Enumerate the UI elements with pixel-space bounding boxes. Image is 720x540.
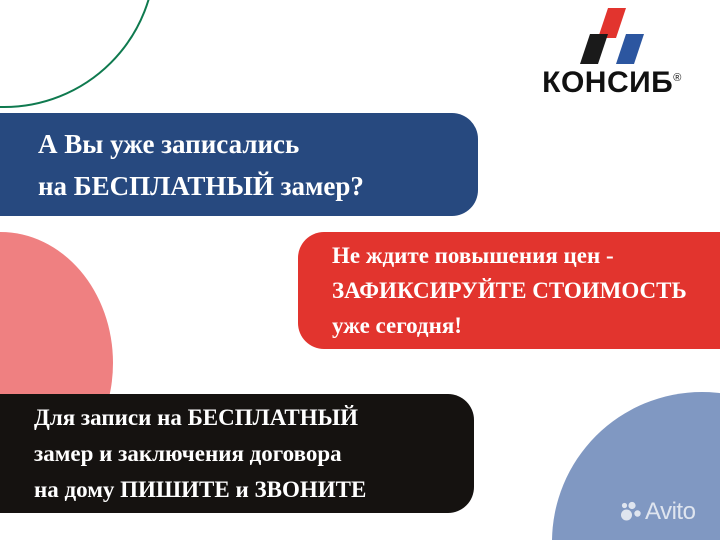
avito-label: Avito bbox=[645, 498, 695, 526]
green-ring-decoration bbox=[0, 0, 156, 108]
banner-free-measurement-question: А Вы уже записались на БЕСПЛАТНЫЙ замер? bbox=[0, 113, 478, 216]
avito-watermark: Avito bbox=[620, 498, 695, 526]
brand-name: КОНСИБ bbox=[542, 66, 673, 99]
banner-black-line-1: Для записи на БЕСПЛАТНЫЙ bbox=[34, 400, 474, 436]
brand-logo: КОНСИБ® bbox=[522, 8, 702, 108]
banner-black-line-2: замер и заключения договора bbox=[34, 436, 474, 472]
konsib-logo-mark-icon bbox=[580, 8, 652, 64]
banner-contact-instructions: Для записи на БЕСПЛАТНЫЙ замер и заключе… bbox=[0, 394, 474, 513]
avito-dots-icon bbox=[620, 501, 642, 523]
banner-blue-line-1: А Вы уже записались bbox=[38, 123, 478, 165]
promo-poster: КОНСИБ® А Вы уже записались на БЕСПЛАТНЫ… bbox=[0, 0, 720, 540]
registered-trademark-symbol: ® bbox=[673, 72, 682, 84]
banner-black-line-3: на дому ПИШИТЕ и ЗВОНИТЕ bbox=[34, 472, 474, 508]
banner-red-line-2: ЗАФИКСИРУЙТЕ СТОИМОСТЬ bbox=[332, 273, 720, 308]
banner-price-lock-offer: Не ждите повышения цен - ЗАФИКСИРУЙТЕ СТ… bbox=[298, 232, 720, 349]
banner-red-line-3: уже сегодня! bbox=[332, 308, 720, 343]
brand-wordmark: КОНСИБ® bbox=[522, 66, 702, 100]
banner-blue-line-2: на БЕСПЛАТНЫЙ замер? bbox=[38, 165, 478, 207]
banner-red-line-1: Не ждите повышения цен - bbox=[332, 238, 720, 273]
